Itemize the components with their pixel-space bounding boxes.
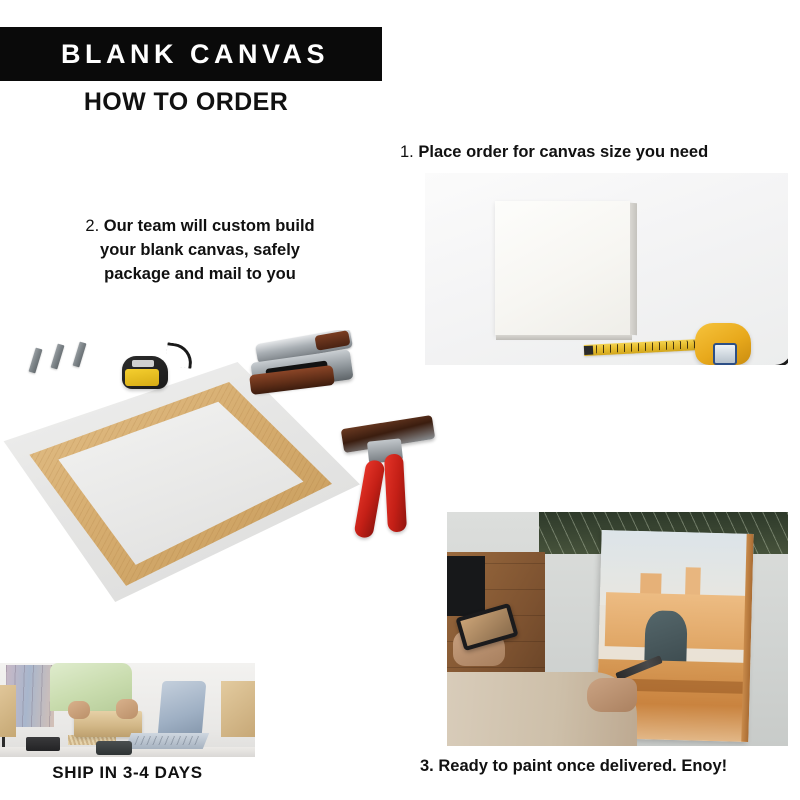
infographic-page: BLANK CANVAS HOW TO ORDER 1. Place order… (0, 0, 800, 800)
black-drape (447, 556, 485, 616)
tape-measure-cord (747, 349, 788, 365)
staple-1 (28, 348, 42, 374)
wooden-stretcher-frame-with-tools-photo (0, 330, 440, 630)
laptop-screen (158, 681, 207, 737)
page-subtitle: HOW TO ORDER (0, 88, 372, 117)
tape-measure-tool-cord (165, 342, 195, 369)
painter-hand-holding-brush (587, 678, 637, 712)
canvas-pliers-grip-left (353, 459, 385, 539)
blank-canvas-board (495, 201, 630, 335)
step-2-line-1: Our team will custom build (104, 217, 315, 235)
step-2-caption: 2. Our team will custom build your blank… (50, 215, 350, 287)
step-1-text: Place order for canvas size you need (418, 143, 708, 161)
page-title: BLANK CANVAS (53, 41, 329, 68)
canvas-pliers (338, 422, 438, 557)
tape-measure-ticks (596, 340, 698, 353)
packer-hand-right (116, 699, 138, 719)
packer-hand-left (68, 701, 90, 719)
title-bar: BLANK CANVAS (0, 27, 382, 81)
laptop-keyboard (125, 733, 209, 749)
person-painting-on-easel-photo (447, 512, 788, 746)
stacked-box-right (221, 681, 255, 737)
step-1-caption: 1. Place order for canvas size you need (400, 141, 780, 165)
step-2-number: 2. (85, 217, 99, 235)
desk-phone (96, 741, 132, 755)
tape-measure-tool (122, 356, 168, 389)
step-3-caption: 3. Ready to paint once delivered. Enoy! (420, 755, 780, 779)
step-3-number: 3. (420, 757, 434, 775)
step-3-text: Ready to paint once delivered. Enoy! (438, 757, 727, 775)
tape-measure-hub (713, 343, 737, 365)
staple-gun (250, 330, 360, 408)
staple-2 (50, 344, 64, 370)
packing-box-with-laptop-photo (0, 663, 255, 757)
step-2-line-3: package and mail to you (104, 265, 296, 283)
staple-3 (72, 342, 86, 368)
blank-canvas-with-tape-measure-photo (425, 173, 788, 365)
stacked-box-left (0, 685, 16, 737)
calculator (26, 737, 60, 751)
canvas-pliers-grip-right (384, 454, 407, 533)
step-2-line-2: your blank canvas, safely (100, 241, 300, 259)
step-1-number: 1. (400, 143, 414, 161)
shipping-caption: SHIP IN 3-4 DAYS (0, 763, 255, 783)
tape-measure-blade (584, 339, 700, 356)
